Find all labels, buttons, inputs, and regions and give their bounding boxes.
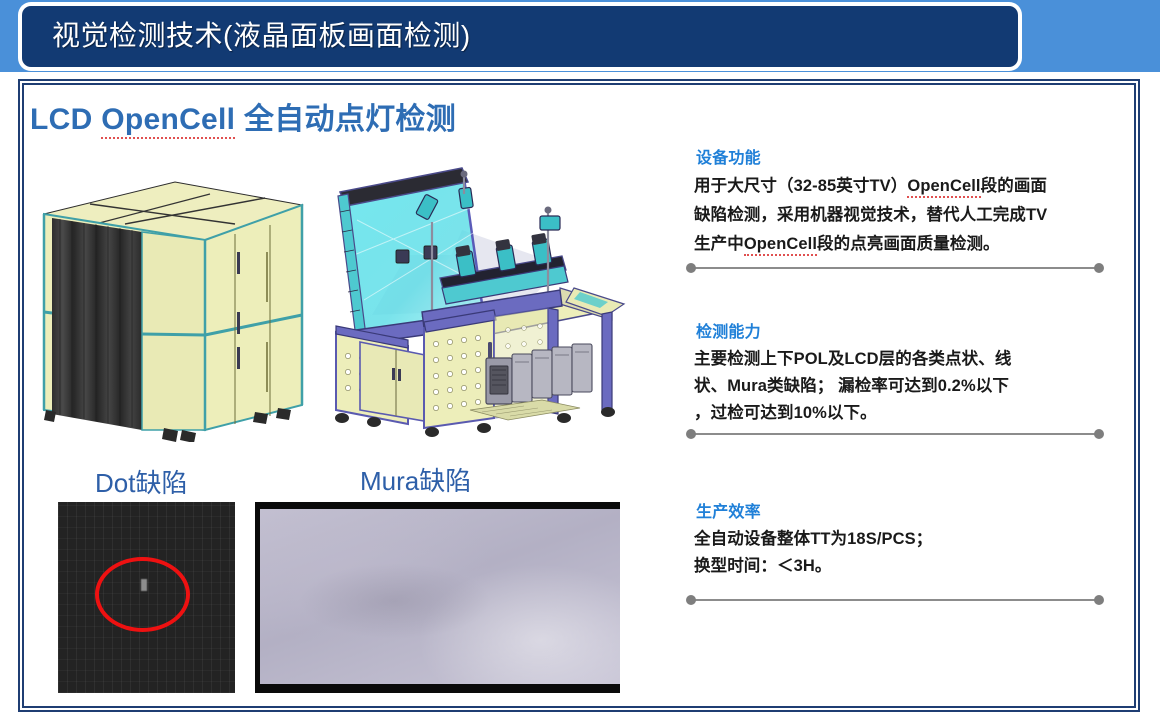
info-block-capacity: 检测能力 主要检测上下POL及LCD层的各类点状、线 状、Mura类缺陷； 漏检… <box>686 318 1106 427</box>
divider-dot-right <box>1094 263 1104 273</box>
inspection-station-illustration <box>312 160 632 445</box>
info-body-function: 用于大尺寸（32-85英寸TV）OpenCell段的画面 缺陷检测，采用机器视觉… <box>694 172 1106 259</box>
divider-after-function <box>686 263 1104 273</box>
divider-dot-right <box>1094 429 1104 439</box>
function-line-1-post: 段的画面 <box>981 177 1047 195</box>
divider-dot-right <box>1094 595 1104 605</box>
info-heading-efficiency: 生产效率 <box>696 498 1106 522</box>
info-body-efficiency: 全自动设备整体TT为18S/PCS； 换型时间：＜3H。 <box>694 526 1106 580</box>
defect-marker-circle <box>95 557 190 632</box>
slide-title: LCD OpenCell 全自动点灯检测 <box>30 94 456 138</box>
divider-dot-left <box>686 429 696 439</box>
function-line-3-post: 段的点亮画面质量检测。 <box>817 235 1000 253</box>
capacity-line-2: 状、Mura类缺陷； 漏检率可达到0.2%以下 <box>694 377 1009 395</box>
capacity-line-3: ，过检可达到10%以下。 <box>694 404 877 422</box>
function-line-3-spell: OpenCell <box>744 235 817 256</box>
dot-defect-sample-image <box>58 502 235 693</box>
function-line-3-pre: 生产中 <box>694 235 744 253</box>
mura-blemish-region <box>296 562 494 641</box>
divider-after-capacity <box>686 429 1104 439</box>
divider-dot-left <box>686 263 696 273</box>
slide-title-spellcheck-term: OpenCell <box>101 103 235 139</box>
function-line-1-spell: OpenCell <box>907 177 980 198</box>
capacity-line-1: 主要检测上下POL及LCD层的各类点状、线 <box>694 350 1011 368</box>
divider-after-efficiency <box>686 595 1104 605</box>
info-body-capacity: 主要检测上下POL及LCD层的各类点状、线 状、Mura类缺陷； 漏检率可达到0… <box>694 346 1106 427</box>
efficiency-line-1: 全自动设备整体TT为18S/PCS； <box>694 530 932 548</box>
caption-dot-defect: Dot缺陷 <box>95 463 187 500</box>
caption-mura-defect: Mura缺陷 <box>360 461 471 498</box>
efficiency-line-2: 换型时间：＜3H。 <box>694 557 832 575</box>
function-line-1-pre: 用于大尺寸（32-85英寸TV） <box>694 177 907 195</box>
equipment-cabinet-illustration <box>30 162 320 442</box>
info-block-efficiency: 生产效率 全自动设备整体TT为18S/PCS； 换型时间：＜3H。 <box>686 498 1106 580</box>
page-title: 视觉检测技术(液晶面板画面检测) <box>52 16 992 56</box>
slide-title-prefix: LCD <box>30 103 101 136</box>
info-block-function: 设备功能 用于大尺寸（32-85英寸TV）OpenCell段的画面 缺陷检测，采… <box>686 144 1106 259</box>
slide-title-suffix: 全自动点灯检测 <box>235 103 456 136</box>
info-heading-capacity: 检测能力 <box>696 318 1106 342</box>
mura-panel-surface <box>260 509 620 684</box>
function-line-2: 缺陷检测，采用机器视觉技术，替代人工完成TV <box>694 206 1047 224</box>
mura-defect-sample-image <box>255 502 620 693</box>
divider-dot-left <box>686 595 696 605</box>
info-heading-function: 设备功能 <box>696 144 1106 168</box>
